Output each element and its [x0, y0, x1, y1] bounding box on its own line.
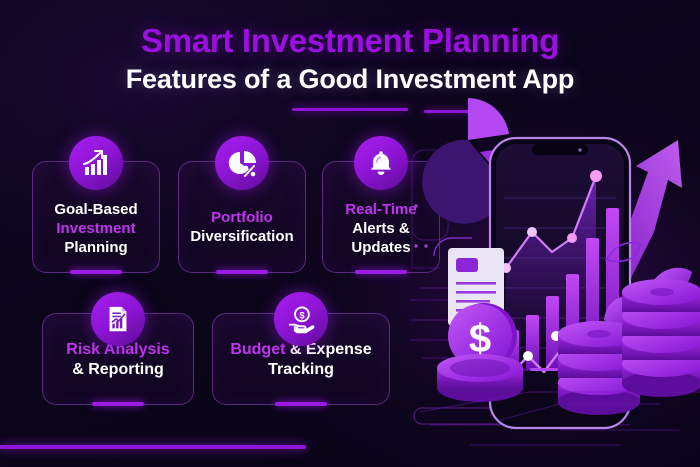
feature-card-line-2: Alerts &	[352, 220, 410, 237]
pie-chart-percent-icon	[215, 136, 269, 190]
feature-card-line-3: Updates	[351, 239, 410, 256]
infographic-canvas: Smart Investment Planning Features of a …	[0, 0, 700, 467]
feature-card-line-2: Investment	[56, 220, 135, 237]
card-accent-bar	[355, 270, 407, 274]
decorative-line-bottom	[0, 445, 306, 449]
feature-card-label: Goal-Based Investment Planning	[33, 200, 159, 258]
feature-card-line-3: Tracking	[268, 361, 334, 378]
feature-card-line-2: & Reporting	[72, 361, 164, 378]
bar-chart-growth-icon	[69, 136, 123, 190]
feature-card-line-1: Portfolio	[211, 209, 273, 226]
title-underline-accent	[292, 108, 408, 111]
card-accent-bar	[70, 270, 122, 274]
bar-chart-growth-glyph	[80, 147, 112, 179]
svg-text:$: $	[299, 310, 305, 320]
coin-stack-left	[437, 354, 523, 402]
hand-holding-dollar-coin-icon: $	[274, 292, 328, 346]
feature-card-line-1: Real-Time	[345, 201, 416, 218]
notification-bell-icon	[354, 136, 408, 190]
feature-card-line-1: Budget	[230, 341, 285, 358]
card-accent-bar	[92, 402, 144, 406]
feature-card-line-3: Planning	[64, 239, 127, 256]
feature-card-label: Risk Analysis & Reporting	[43, 340, 193, 381]
pie-chart-percent-glyph	[226, 147, 258, 179]
feature-card-label: Budget & Expense Tracking	[213, 340, 389, 381]
feature-card-line-1: Goal-Based	[54, 201, 137, 218]
feature-card-label: Portfolio Diversification	[179, 208, 305, 246]
illustration-svg: $	[410, 0, 700, 467]
document-report-chart-glyph	[103, 304, 133, 334]
card-accent-bar	[275, 402, 327, 406]
feature-card-line-2: Diversification	[190, 228, 293, 245]
coin-stack-right	[622, 279, 700, 397]
investment-illustration: $	[410, 0, 700, 467]
hand-holding-dollar-coin-glyph: $	[286, 304, 316, 334]
notification-bell-glyph	[366, 148, 396, 178]
document-report-chart-icon	[91, 292, 145, 346]
card-accent-bar	[216, 270, 268, 274]
